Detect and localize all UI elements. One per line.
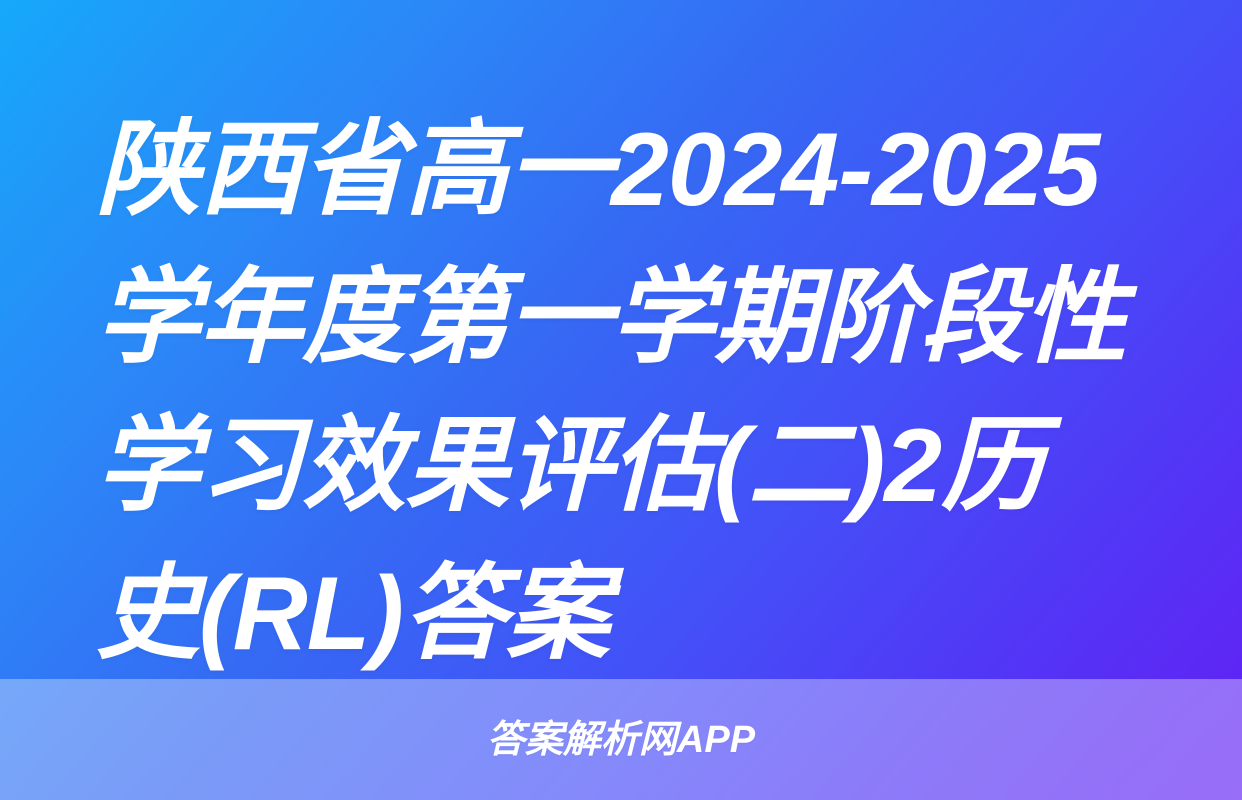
watermark-label: 答案解析网APP bbox=[487, 721, 755, 759]
watermark-bar: 答案解析网APP bbox=[0, 679, 1242, 800]
poster-canvas: 陕西省高一2024-2025学年度第一学期阶段性学习效果评估(二)2历史(RL)… bbox=[0, 0, 1242, 800]
page-title: 陕西省高一2024-2025学年度第一学期阶段性学习效果评估(二)2历史(RL)… bbox=[0, 96, 1242, 688]
